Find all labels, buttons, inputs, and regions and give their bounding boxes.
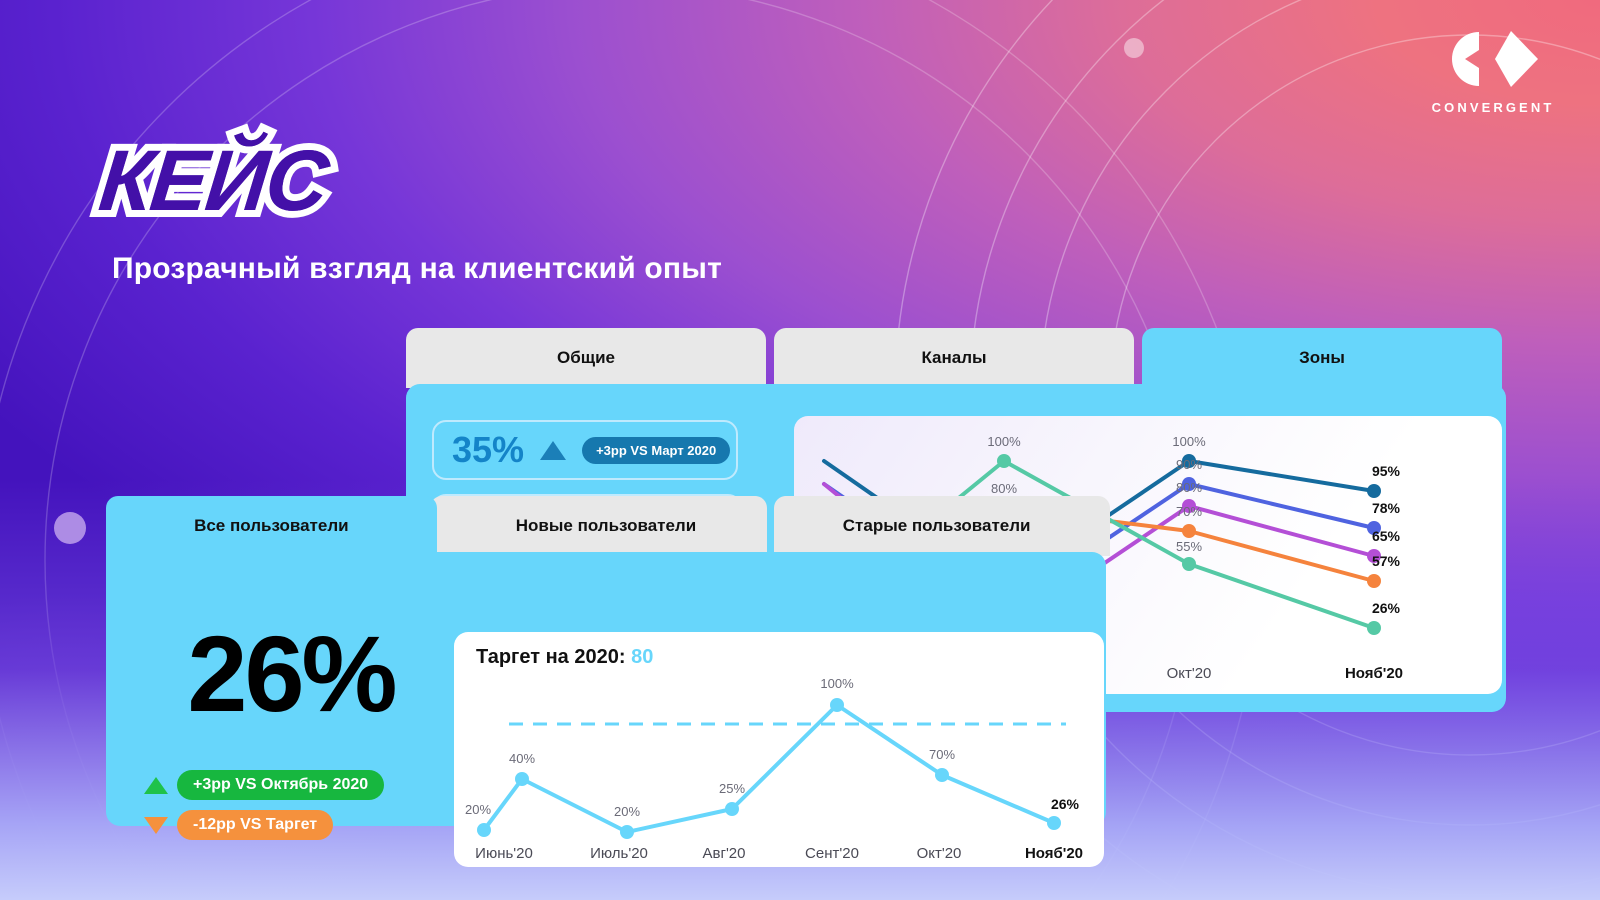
kpi-badge-negative: -12pp VS Таргет bbox=[144, 810, 333, 840]
main-card-title-value: 80 bbox=[631, 646, 653, 668]
main-x-tick: Сент'20 bbox=[805, 845, 859, 862]
kpi-badge-positive: +3pp VS Октябрь 2020 bbox=[144, 770, 384, 800]
main-point-label: 70% bbox=[929, 747, 955, 762]
triangle-up-icon bbox=[540, 441, 566, 460]
zones-end-label: 57% bbox=[1372, 553, 1401, 569]
zones-point-label: 100% bbox=[1172, 434, 1206, 449]
zones-point-label: 55% bbox=[1176, 539, 1202, 554]
kpi-main-badges: +3pp VS Октябрь 2020 -12pp VS Таргет bbox=[130, 770, 452, 840]
zones-point-label: 90% bbox=[1176, 457, 1202, 472]
kpi-secondary-value: 35% bbox=[452, 429, 524, 471]
main-x-tick: Июнь'20 bbox=[475, 845, 533, 862]
main-card-title-prefix: Таргет на 2020: bbox=[476, 646, 626, 668]
triangle-down-icon bbox=[144, 817, 168, 834]
decorative-dot bbox=[1124, 38, 1144, 58]
brand-logo: CONVERGENT bbox=[1418, 28, 1568, 115]
page-title-logo: КЕЙС КЕЙС bbox=[95, 132, 332, 231]
decorative-dot bbox=[54, 512, 86, 544]
kpi-secondary: 35% +3pp VS Март 2020 bbox=[432, 420, 738, 480]
tab-starye-polzovateli[interactable]: Старые пользователи bbox=[775, 496, 1098, 556]
zones-point-label: 70% bbox=[1176, 504, 1202, 519]
main-point-label: 20% bbox=[465, 802, 491, 817]
main-point-label: 100% bbox=[820, 676, 854, 691]
main-x-tick: Нояб'20 bbox=[1025, 845, 1083, 862]
kpi-badge-label: -12pp VS Таргет bbox=[177, 810, 333, 840]
tabs-back: Общие Каналы Зоны bbox=[406, 326, 1506, 388]
main-x-tick: Окт'20 bbox=[917, 845, 962, 862]
main-point-label: 40% bbox=[509, 751, 535, 766]
zones-x-tick: Нояб'20 bbox=[1345, 665, 1403, 682]
panel-all-users-body: 26% +3pp VS Октябрь 2020 -12pp VS Таргет… bbox=[106, 552, 1106, 826]
slide-canvas: CONVERGENT КЕЙС КЕЙС Прозрачный взгляд н… bbox=[0, 0, 1600, 900]
main-trend-card: Таргет на 2020: 80 20% bbox=[454, 632, 1104, 867]
page-subtitle: Прозрачный взгляд на клиентский опыт bbox=[112, 252, 722, 286]
kpi-main: 26% +3pp VS Октябрь 2020 -12pp VS Таргет bbox=[130, 620, 452, 840]
kpi-secondary-delta-badge: +3pp VS Март 2020 bbox=[582, 437, 730, 464]
tab-obshchie[interactable]: Общие bbox=[406, 328, 766, 388]
tab-kanaly[interactable]: Каналы bbox=[774, 328, 1134, 388]
tabs-front: Все пользователи Новые пользователи Стар… bbox=[106, 496, 1106, 556]
zones-end-label: 26% bbox=[1372, 600, 1401, 616]
triangle-up-icon bbox=[144, 777, 168, 794]
zones-end-label: 65% bbox=[1372, 528, 1401, 544]
main-x-tick: Авг'20 bbox=[703, 845, 746, 862]
main-x-tick: Июль'20 bbox=[590, 845, 648, 862]
main-point-label: 20% bbox=[614, 804, 640, 819]
zones-point-label: 100% bbox=[987, 434, 1021, 449]
main-end-label: 26% bbox=[1051, 796, 1080, 812]
brand-name: CONVERGENT bbox=[1418, 100, 1568, 115]
main-point-label: 25% bbox=[719, 781, 745, 796]
kpi-badge-label: +3pp VS Октябрь 2020 bbox=[177, 770, 384, 800]
zones-end-label: 78% bbox=[1372, 500, 1401, 516]
convergent-logo-icon bbox=[1445, 28, 1541, 90]
panel-all-users: Все пользователи Новые пользователи Стар… bbox=[106, 496, 1106, 826]
zones-point-label: 80% bbox=[1176, 480, 1202, 495]
main-card-title: Таргет на 2020: 80 bbox=[476, 646, 653, 669]
zones-point-label: 80% bbox=[991, 481, 1017, 496]
zones-end-label: 95% bbox=[1372, 463, 1401, 479]
zones-x-tick: Окт'20 bbox=[1167, 665, 1212, 682]
kpi-main-value: 26% bbox=[130, 620, 452, 728]
tab-zony[interactable]: Зоны bbox=[1142, 328, 1502, 388]
page-title-logo-fill: КЕЙС bbox=[95, 132, 332, 231]
tab-vse-polzovateli[interactable]: Все пользователи bbox=[106, 496, 437, 556]
tab-novye-polzovateli[interactable]: Новые пользователи bbox=[445, 496, 768, 556]
